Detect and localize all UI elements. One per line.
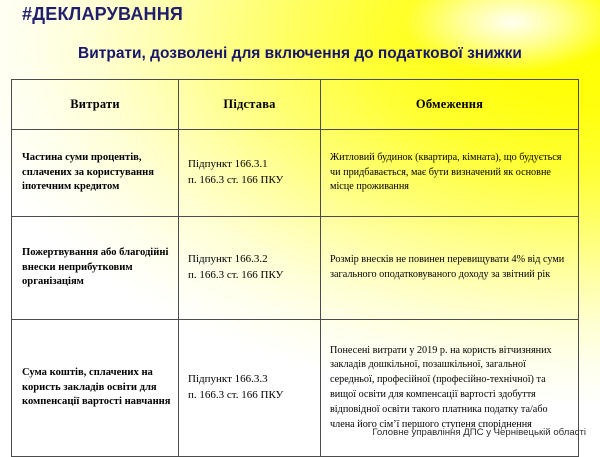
footer-attribution: Головне управління ДПС у Чернівецькій об… xyxy=(0,427,586,438)
table-header: Витрати Підстава Обмеження xyxy=(12,80,579,130)
column-header-basis: Підстава xyxy=(179,80,321,130)
cell-basis: Підпункт 166.3.1 п. 166.3 ст. 166 ПКУ xyxy=(179,130,321,217)
table-header-row: Витрати Підстава Обмеження xyxy=(12,80,579,130)
cell-limit: Житловий будинок (квартира, кімната), що… xyxy=(321,130,579,217)
table-row: Пожертвування або благодійні внески непр… xyxy=(12,217,579,320)
column-header-limit: Обмеження xyxy=(321,80,579,130)
cell-expense: Частина суми процентів, сплачених за кор… xyxy=(12,130,179,217)
expenses-table: Витрати Підстава Обмеження Частина суми … xyxy=(11,79,579,457)
expenses-table-container: Витрати Підстава Обмеження Частина суми … xyxy=(11,79,578,457)
slide-background: #ДЕКЛАРУВАННЯ Витрати, дозволені для вкл… xyxy=(0,0,600,450)
page-title: Витрати, дозволені для включення до пода… xyxy=(0,45,600,63)
column-header-expense: Витрати xyxy=(12,80,179,130)
cell-basis: Підпункт 166.3.2 п. 166.3 ст. 166 ПКУ xyxy=(179,217,321,320)
table-body: Частина суми процентів, сплачених за кор… xyxy=(12,130,579,457)
table-row: Частина суми процентів, сплачених за кор… xyxy=(12,130,579,217)
cell-expense: Пожертвування або благодійні внески непр… xyxy=(12,217,179,320)
cell-limit: Розмір внесків не повинен перевищувати 4… xyxy=(321,217,579,320)
hashtag-label: #ДЕКЛАРУВАННЯ xyxy=(22,4,183,25)
